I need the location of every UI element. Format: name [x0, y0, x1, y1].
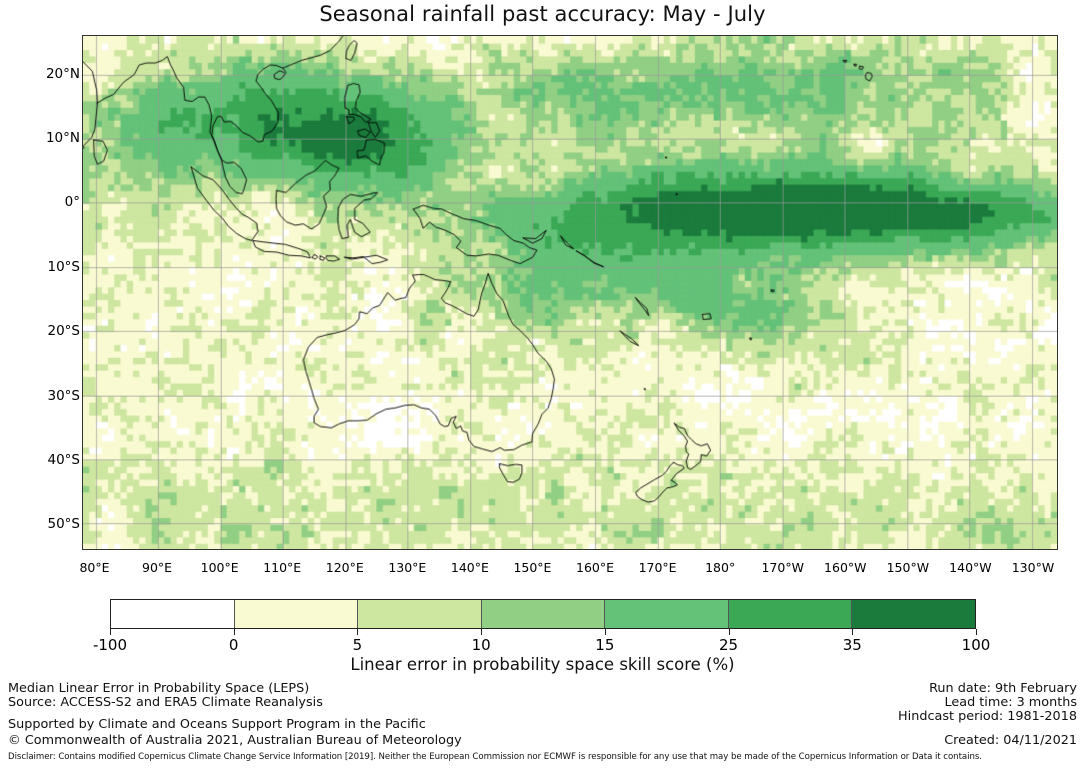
- colorbar-segment-4: [605, 600, 729, 628]
- footer-support-label: Supported by Climate and Oceans Support …: [8, 717, 426, 732]
- longitude-tick-label: 110°E: [263, 560, 301, 575]
- run-date-label: Run date: 9th February: [929, 681, 1077, 696]
- colorbar-segment-6: [852, 600, 975, 628]
- latitude-tick-label: 0°: [0, 194, 80, 210]
- latitude-tick-label: 20°N: [0, 66, 80, 82]
- hindcast-period-label: Hindcast period: 1981-2018: [898, 709, 1077, 724]
- latitude-tick-label: 10°S: [0, 259, 80, 275]
- colorbar-tick-mark: [357, 629, 358, 635]
- colorbar-segment-3: [482, 600, 606, 628]
- colorbar-tick-mark: [852, 629, 853, 635]
- colorbar-tick-mark: [976, 629, 977, 635]
- colorbar-tick-label: -100: [93, 636, 127, 654]
- longitude-tick-label: 160°W: [824, 560, 866, 575]
- latitude-tick-label: 20°S: [0, 323, 80, 339]
- longitude-tick-label: 130°W: [1012, 560, 1054, 575]
- latitude-tick-label: 50°S: [0, 516, 80, 532]
- longitude-tick-label: 130°E: [388, 560, 426, 575]
- longitude-tick-label: 140°E: [451, 560, 489, 575]
- colorbar-tick-label: 15: [595, 636, 614, 654]
- latitude-tick-label: 30°S: [0, 388, 80, 404]
- footer-copyright: © Commonwealth of Australia 2021, Austra…: [8, 733, 462, 748]
- colorbar-tick-label: 35: [843, 636, 862, 654]
- colorbar-tick-mark: [110, 629, 111, 635]
- colorbar-tick-label: 100: [962, 636, 991, 654]
- longitude-tick-label: 150°W: [887, 560, 929, 575]
- created-date-label: Created: 04/11/2021: [944, 733, 1077, 748]
- longitude-tick-label: 140°W: [949, 560, 991, 575]
- colorbar-tick-label: 10: [472, 636, 491, 654]
- longitude-tick-label: 170°W: [761, 560, 803, 575]
- lead-time-label: Lead time: 3 months: [944, 695, 1077, 710]
- longitude-tick-label: 90°E: [142, 560, 172, 575]
- longitude-tick-label: 180°: [705, 560, 735, 575]
- colorbar-tick-mark: [234, 629, 235, 635]
- longitude-tick-label: 150°E: [513, 560, 551, 575]
- map-plot-area: [82, 35, 1058, 550]
- longitude-tick-label: 160°E: [576, 560, 614, 575]
- latitude-tick-label: 10°N: [0, 130, 80, 146]
- colorbar-segment-0: [111, 600, 235, 628]
- disclaimer-text: Disclaimer: Contains modified Copernicus…: [8, 752, 982, 762]
- colorbar: [110, 599, 976, 629]
- colorbar-tick-mark: [729, 629, 730, 635]
- colorbar-segment-1: [235, 600, 359, 628]
- latitude-tick-label: 40°S: [0, 452, 80, 468]
- footer-leps-label: Median Linear Error in Probability Space…: [8, 681, 309, 696]
- skill-score-heatmap: [83, 36, 1057, 549]
- colorbar-tick-mark: [605, 629, 606, 635]
- longitude-tick-label: 100°E: [201, 560, 239, 575]
- colorbar-tick-label: 25: [719, 636, 738, 654]
- colorbar-tick-label: 0: [229, 636, 239, 654]
- colorbar-segment-2: [358, 600, 482, 628]
- colorbar-tick-label: 5: [353, 636, 363, 654]
- colorbar-segment-5: [729, 600, 853, 628]
- colorbar-tick-mark: [481, 629, 482, 635]
- page-title: Seasonal rainfall past accuracy: May - J…: [0, 2, 1085, 26]
- longitude-tick-label: 80°E: [79, 560, 109, 575]
- colorbar-title: Linear error in probability space skill …: [0, 655, 1085, 674]
- longitude-tick-label: 170°E: [639, 560, 677, 575]
- footer-source-label: Source: ACCESS-S2 and ERA5 Climate Reana…: [8, 695, 323, 710]
- longitude-tick-label: 120°E: [326, 560, 364, 575]
